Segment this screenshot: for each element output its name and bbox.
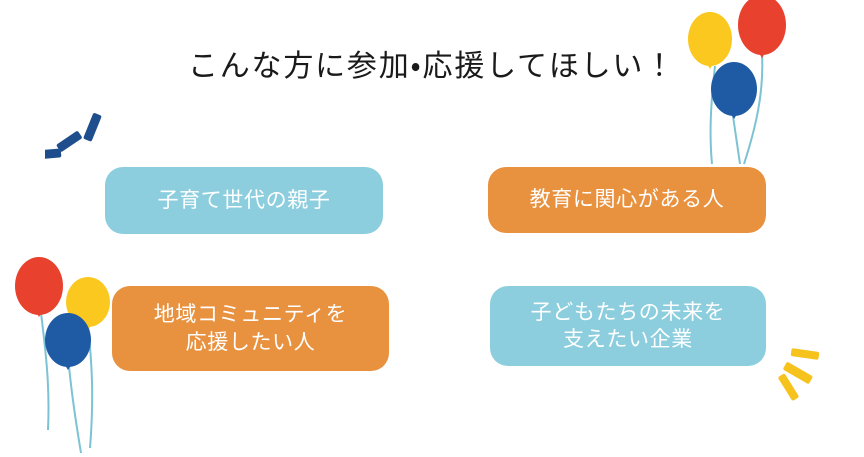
balloon-cluster-top-right (680, 0, 864, 172)
sparkle-dash (791, 348, 820, 360)
card-education-label: 教育に関心がある人 (530, 186, 725, 213)
card-education[interactable]: 教育に関心がある人 (488, 167, 766, 233)
card-parents[interactable]: 子育て世代の親子 (105, 167, 383, 234)
balloon-string (733, 116, 740, 164)
sparkle-dash (83, 113, 102, 142)
balloon-red (738, 0, 786, 55)
page-title: こんな方に参加・応援してほしい！ (0, 48, 864, 86)
sparkle-yellow-icon (775, 342, 841, 402)
balloon-string (69, 366, 81, 453)
sparkle-dash (45, 148, 61, 159)
card-parents-label: 子育て世代の親子 (157, 187, 330, 214)
card-companies[interactable]: 子どもたちの未来を 支えたい企業 (490, 286, 766, 366)
poster-canvas: こんな方に参加・応援してほしい！ (0, 0, 864, 457)
sparkle-blue-icon (45, 106, 113, 164)
balloon-blue (45, 313, 91, 367)
card-community[interactable]: 地域コミュニティを 応援したい人 (112, 286, 389, 371)
card-community-label: 地域コミュニティを 応援したい人 (154, 301, 348, 356)
balloon-knot (731, 114, 737, 119)
sparkle-dash (778, 373, 800, 401)
balloon-red (15, 257, 63, 315)
card-companies-label: 子どもたちの未来を 支えたい企業 (531, 299, 726, 354)
